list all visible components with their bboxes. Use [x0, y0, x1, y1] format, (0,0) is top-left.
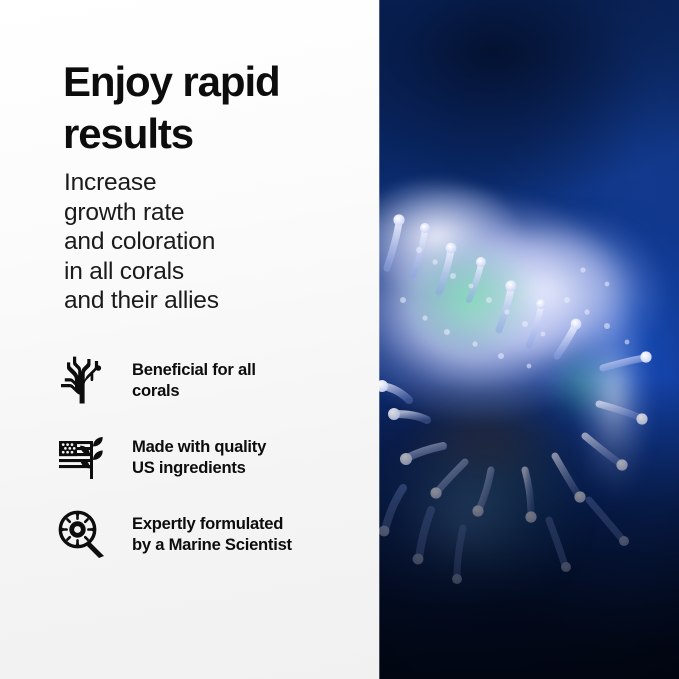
feature-label: Expertly formulated by a Marine Scientis… [132, 513, 292, 555]
ocean-dark-bottom [379, 379, 679, 679]
headline: Enjoy rapid results [63, 56, 363, 160]
subheadline-line-1: Increase [64, 168, 364, 198]
subheadline-line-5: and their allies [64, 286, 364, 316]
feature-label: Made with quality US ingredients [132, 436, 266, 478]
feature-label: Beneficial for all corals [132, 359, 256, 401]
product-feature-banner: Enjoy rapid results Increase growth rate… [0, 0, 679, 679]
headline-line-2: results [63, 108, 363, 160]
subheadline-line-4: in all corals [64, 257, 364, 287]
us-flag-plant-icon [57, 432, 107, 482]
left-content-panel: Enjoy rapid results Increase growth rate… [0, 0, 379, 679]
subheadline-line-2: growth rate [64, 198, 364, 228]
panel-divider [379, 0, 380, 679]
subheadline: Increase growth rate and coloration in a… [64, 168, 364, 316]
feature-list: Beneficial for all corals [57, 350, 377, 581]
coral-photo [379, 0, 679, 679]
feature-item-beneficial-for-all-corals: Beneficial for all corals [57, 350, 377, 410]
magnifier-microbe-icon [57, 509, 107, 559]
subheadline-line-3: and coloration [64, 227, 364, 257]
headline-line-1: Enjoy rapid [63, 56, 363, 108]
feature-item-made-with-quality-us-ingredients: Made with quality US ingredients [57, 427, 377, 487]
coral-branch-icon [57, 355, 107, 405]
feature-item-expertly-formulated: Expertly formulated by a Marine Scientis… [57, 504, 377, 564]
